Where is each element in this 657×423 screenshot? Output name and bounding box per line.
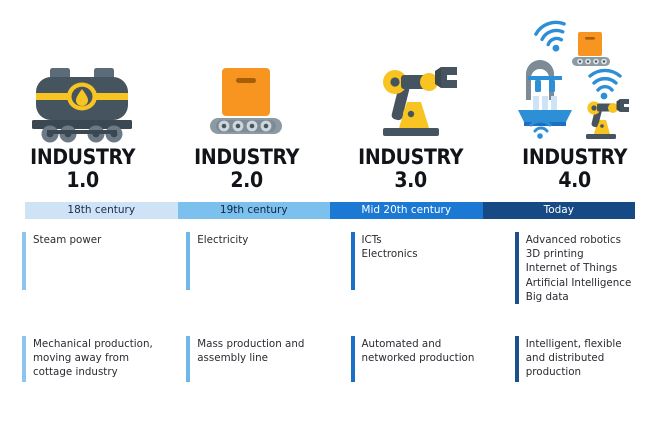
tech-text-industry-2: Electricity [197, 232, 248, 328]
accent-bar [351, 336, 355, 382]
robotic-arm-icon [586, 99, 629, 139]
era-segment-industry-2: 19th century [178, 202, 331, 219]
heading-industry-1: INDUSTRY 1.0 [30, 146, 135, 198]
accent-bar [22, 336, 26, 382]
column-industry-1: INDUSTRY 1.0 [0, 0, 164, 198]
production-text-industry-2: Mass production and assembly line [197, 336, 304, 418]
tech-text-industry-4: Advanced robotics 3D printing Internet o… [526, 232, 632, 328]
technology-feature-row: Steam power Electricity ICTs Electronics… [0, 232, 657, 328]
tech-text-industry-3: ICTs Electronics [362, 232, 418, 328]
tech-cell-industry-1: Steam power [0, 232, 164, 328]
production-cell-industry-4: Intelligent, flexible and distributed pr… [493, 336, 657, 418]
wifi-signal-icon [590, 70, 620, 99]
column-industry-2: INDUSTRY 2.0 [164, 0, 328, 198]
era-segment-industry-4: Today [483, 202, 636, 219]
3d-printer-icon [518, 60, 572, 126]
tech-text-industry-1: Steam power [33, 232, 101, 328]
production-cell-industry-3: Automated and networked production [329, 336, 493, 418]
tech-cell-industry-3: ICTs Electronics [329, 232, 493, 328]
tech-cell-industry-2: Electricity [164, 232, 328, 328]
column-industry-3: INDUSTRY 3.0 [329, 0, 493, 198]
production-cell-industry-2: Mass production and assembly line [164, 336, 328, 418]
tech-cell-industry-4: Advanced robotics 3D printing Internet o… [493, 232, 657, 328]
icon-heading-row: INDUSTRY 1.0 [0, 0, 657, 198]
steam-locomotive-tank-car-icon [20, 24, 144, 146]
production-cell-industry-1: Mechanical production, moving away from … [0, 336, 164, 418]
accent-bar [351, 232, 355, 290]
robotic-arm-icon [349, 24, 473, 146]
era-segment-industry-3: Mid 20th century [330, 202, 483, 219]
industry-evolution-infographic: INDUSTRY 1.0 [0, 0, 657, 423]
accent-bar [515, 336, 519, 382]
production-feature-row: Mechanical production, moving away from … [0, 336, 657, 418]
accent-bar [186, 336, 190, 382]
era-timeline-bar: 18th century 19th century Mid 20th centu… [25, 202, 635, 219]
wifi-signal-icon [534, 19, 572, 56]
heading-industry-3: INDUSTRY 3.0 [358, 146, 463, 198]
accent-bar [515, 232, 519, 304]
production-text-industry-4: Intelligent, flexible and distributed pr… [526, 336, 622, 418]
accent-bar [186, 232, 190, 290]
column-industry-4: INDUSTRY 4.0 [493, 0, 657, 198]
production-text-industry-1: Mechanical production, moving away from … [33, 336, 153, 418]
conveyor-belt-box-icon [184, 24, 308, 146]
production-text-industry-3: Automated and networked production [362, 336, 475, 418]
mini-conveyor-icon [572, 32, 610, 66]
accent-bar [22, 232, 26, 290]
smart-factory-iot-icon [510, 12, 640, 146]
heading-industry-4: INDUSTRY 4.0 [522, 146, 627, 198]
heading-industry-2: INDUSTRY 2.0 [194, 146, 299, 198]
era-segment-industry-1: 18th century [25, 202, 178, 219]
